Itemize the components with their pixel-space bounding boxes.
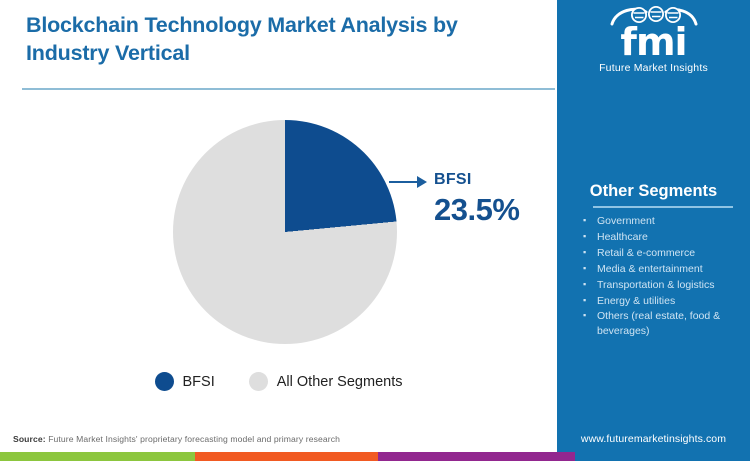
source-note: Source: Future Market Insights' propriet… — [13, 434, 340, 444]
fmi-logo[interactable]: fmi Future Market Insights — [557, 6, 750, 74]
legend-item-bfsi: BFSI — [155, 372, 215, 391]
globe-icons — [557, 6, 750, 28]
list-item: Others (real estate, food & beverages) — [583, 309, 748, 339]
logo-wordmark: fmi — [557, 24, 750, 60]
bar-segment-green — [0, 452, 195, 461]
legend-item-all-other-segments: All Other Segments — [249, 372, 403, 391]
bottom-color-bar — [0, 452, 557, 461]
list-item: Media & entertainment — [583, 262, 748, 277]
infographic-page: Blockchain Technology Market Analysis by… — [0, 0, 750, 461]
callout-label: BFSI — [434, 171, 472, 189]
arrow-right-icon — [417, 176, 427, 188]
list-item: Retail & e-commerce — [583, 246, 748, 261]
legend-label-all-other-segments: All Other Segments — [277, 374, 403, 390]
pie-chart-area: BFSI 23.5% — [0, 96, 557, 366]
other-segments-list: Government Healthcare Retail & e-commerc… — [583, 214, 748, 340]
callout-leader-line — [389, 181, 419, 183]
pie-chart — [173, 120, 397, 344]
list-item: Government — [583, 214, 748, 229]
sidebar-bottom-accent — [557, 452, 575, 461]
list-item: Transportation & logistics — [583, 278, 748, 293]
legend-label-bfsi: BFSI — [183, 374, 215, 390]
legend-swatch-all-other-segments — [249, 372, 268, 391]
website-link[interactable]: www.futuremarketinsights.com — [557, 433, 750, 445]
page-title: Blockchain Technology Market Analysis by… — [26, 12, 526, 67]
bar-segment-purple — [378, 452, 557, 461]
sidebar: fmi Future Market Insights Other Segment… — [557, 0, 750, 461]
callout-value: 23.5% — [434, 192, 519, 228]
chart-legend: BFSI All Other Segments — [0, 372, 557, 391]
bar-segment-orange — [195, 452, 378, 461]
logo-tagline: Future Market Insights — [557, 62, 750, 74]
legend-swatch-bfsi — [155, 372, 174, 391]
other-segments-heading: Other Segments — [557, 182, 750, 201]
title-divider — [22, 88, 555, 90]
list-item: Energy & utilities — [583, 294, 748, 309]
list-item: Healthcare — [583, 230, 748, 245]
source-label: Source: — [13, 434, 46, 444]
segments-divider — [593, 206, 733, 208]
source-text: Future Market Insights' proprietary fore… — [46, 434, 340, 444]
